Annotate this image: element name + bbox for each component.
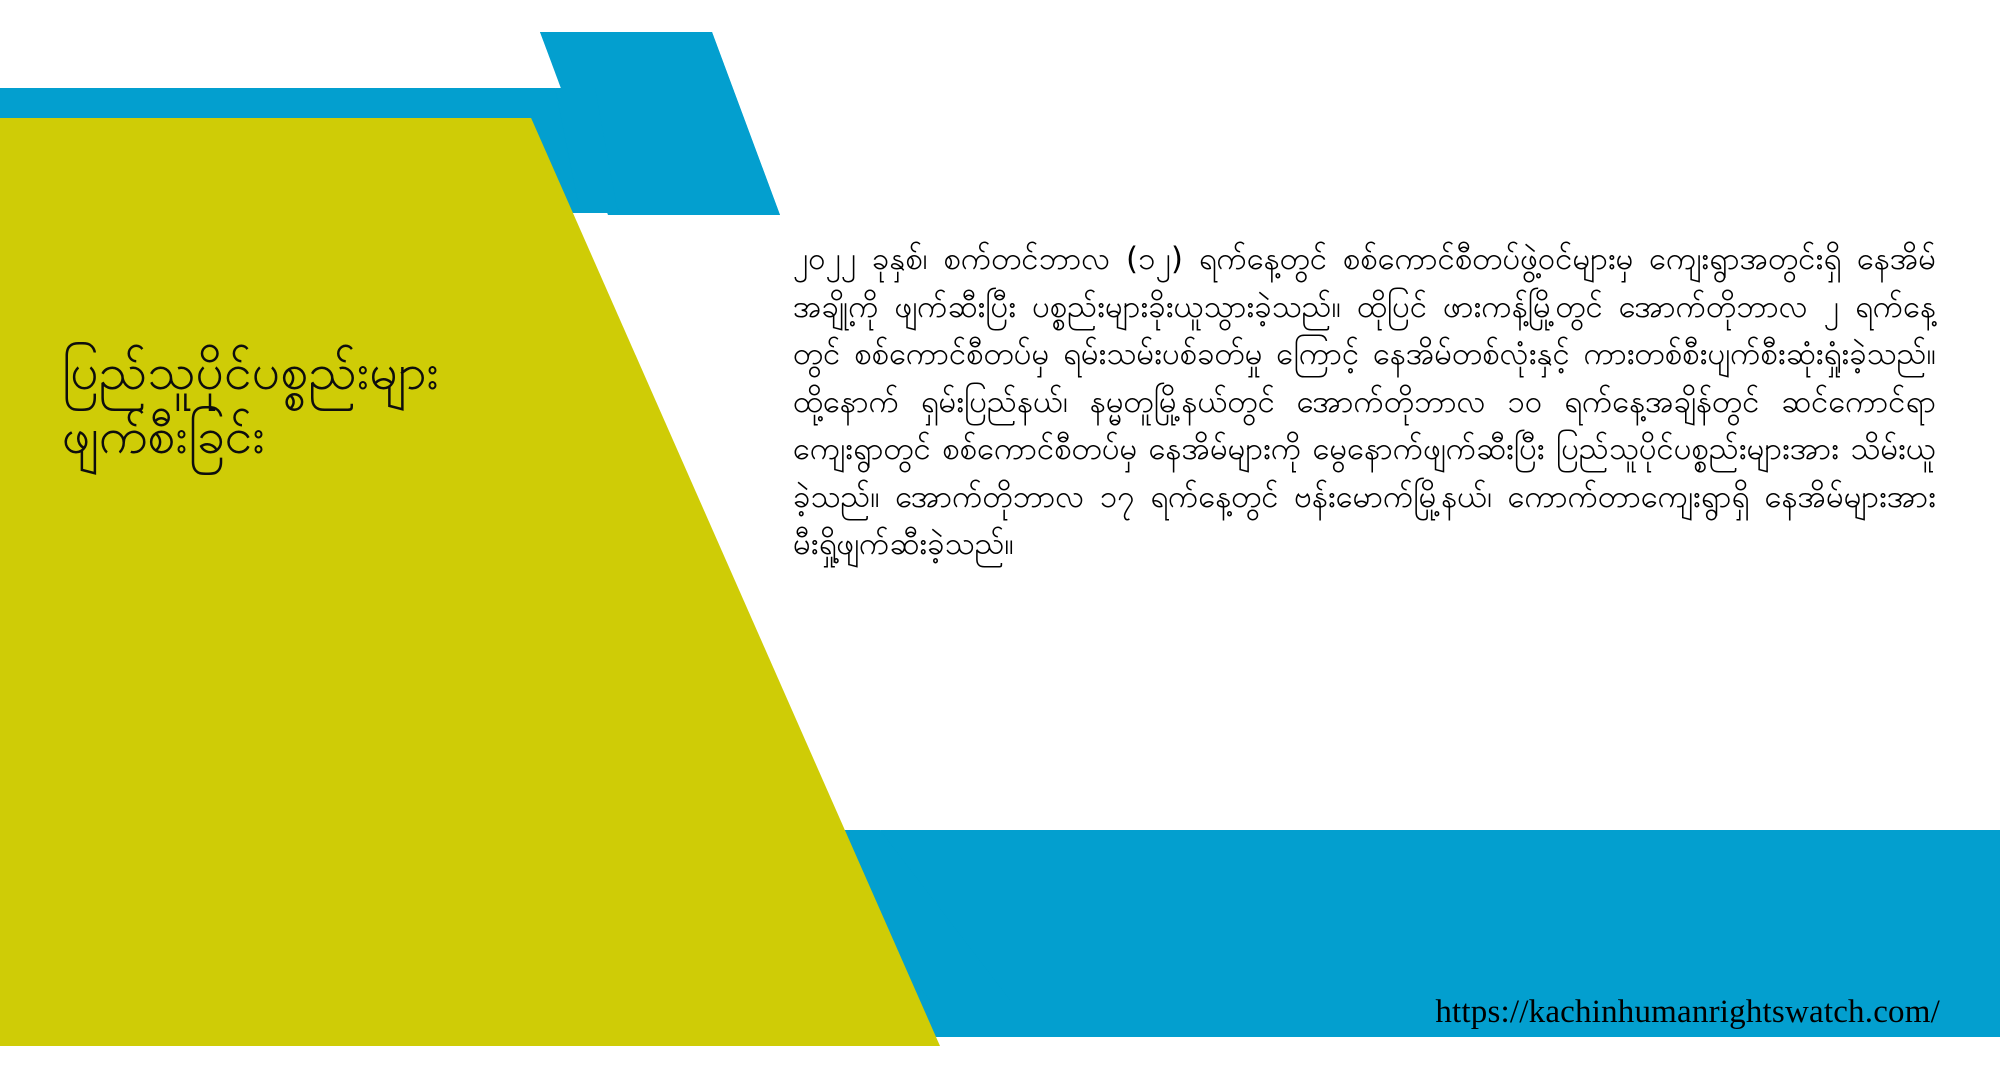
page-title-line-2: ဖျက်စီးခြင်း bbox=[62, 404, 742, 468]
body-text-column: ၂၀၂၂ ခုနှစ်၊ စက်တင်ဘာလ (၁၂) ရက်နေ့တွင် စ… bbox=[793, 236, 1936, 569]
page-title-line-1: ပြည်သူပိုင်ပစ္စည်းများ bbox=[62, 340, 742, 404]
source-url[interactable]: https://kachinhumanrightswatch.com/ bbox=[1435, 994, 1940, 1031]
slide-canvas: ပြည်သူပိုင်ပစ္စည်းများ ဖျက်စီးခြင်း ၂၀၂၂… bbox=[0, 0, 2000, 1067]
body-paragraph: ၂၀၂၂ ခုနှစ်၊ စက်တင်ဘာလ (၁၂) ရက်နေ့တွင် စ… bbox=[793, 236, 1936, 569]
page-title: ပြည်သူပိုင်ပစ္စည်းများ ဖျက်စီးခြင်း bbox=[62, 340, 742, 468]
